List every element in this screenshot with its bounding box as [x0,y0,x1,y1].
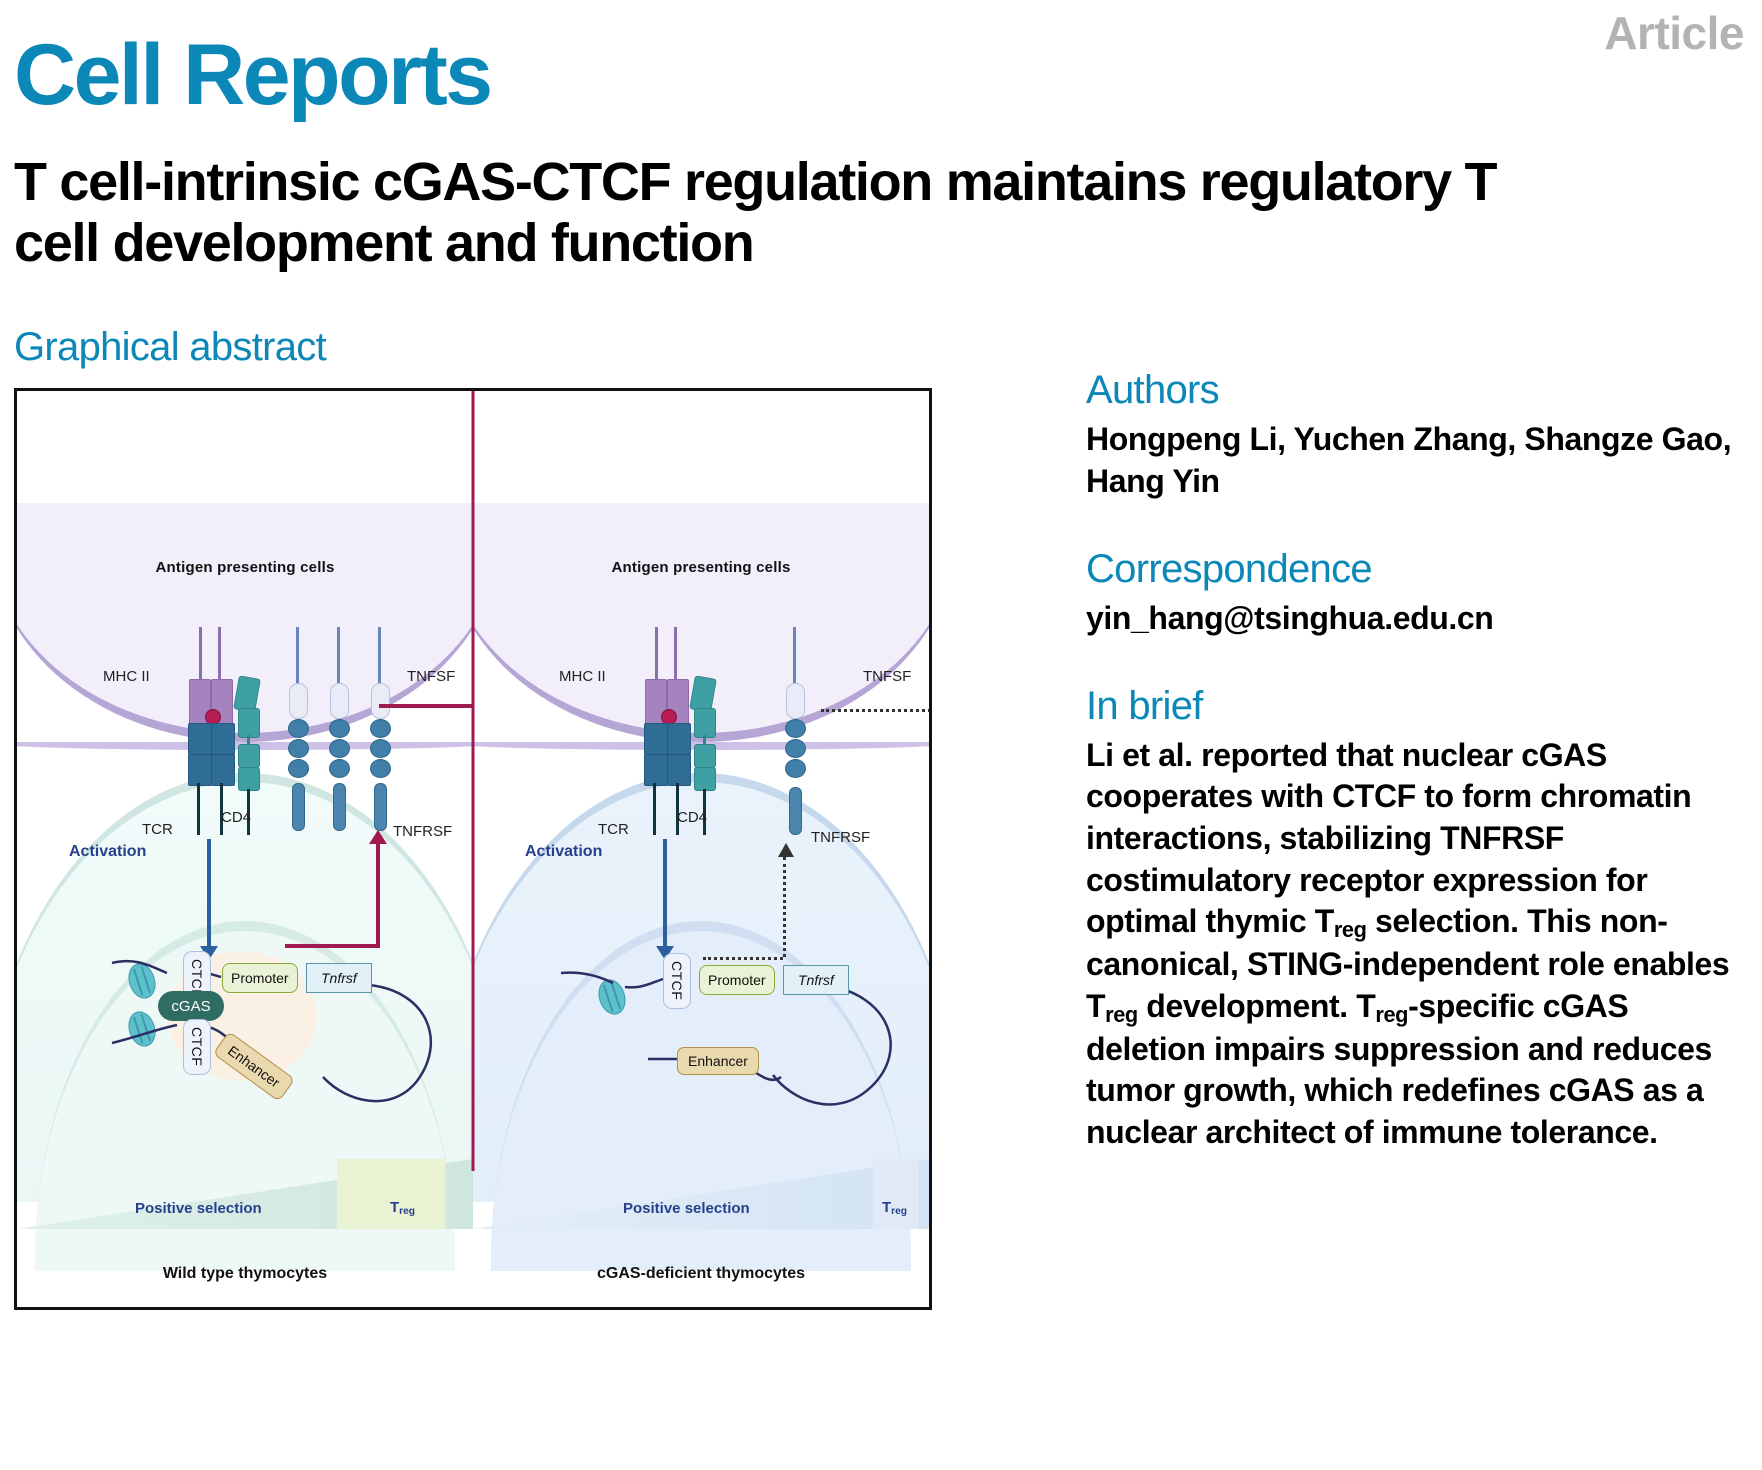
tnfsf-bead-3b [370,739,391,758]
tnfsf-bead-2c [329,759,350,778]
panel-caption-wild-type: Wild type thymocytes [17,1265,473,1283]
tnfsf-bead-2a [329,719,350,738]
cd4-domain-4 [238,767,260,791]
dotted-arrow-horizontal [703,957,783,960]
mhc-stalk-right-mut [674,627,677,685]
tnfsf-stalk-2 [337,627,340,687]
activation-arrow [207,839,211,947]
figure-panel-wild-type: Antigen presenting cells [17,391,473,1307]
cd4-domain-2-mut [694,708,716,738]
positive-selection-label: Positive selection [135,1200,262,1217]
promoter-element: Promoter [222,963,298,993]
dotted-arrow-up [783,857,786,957]
tnfsf-stalk-mut [793,627,796,687]
panel-caption-cgas-deficient: cGAS-deficient thymocytes [473,1265,929,1283]
cd4-domain-3-mut [694,744,716,768]
tcr-label: TCR [142,821,173,838]
tnfrsf-rod-2 [333,783,346,831]
page-title: T cell-intrinsic cGAS-CTCF regulation ma… [14,152,1514,274]
tcr-subunit-left-lower [188,754,212,786]
panel-divider [472,391,475,1171]
magenta-arrow-horizontal [285,944,380,948]
enhancer-element-mut: Enhancer [677,1047,759,1075]
tcr-subunit-left-upper-mut [644,723,668,755]
apc-label-mut: Antigen presenting cells [473,559,929,576]
activation-arrow-mut [663,839,667,947]
mhc-ii-label: MHC II [103,668,150,685]
dotted-feedback-horizontal [821,709,929,712]
article-metadata-column: Authors Hongpeng Li, Yuchen Zhang, Shang… [1086,368,1746,1154]
tnfrsf-rod-3 [374,783,387,831]
treg-band [337,1159,445,1229]
tcr-stalk-left-mut [653,783,656,835]
tnfsf-label-mut: TNFSF [863,668,911,685]
mhc-stalk-right [218,627,221,685]
cgas-protein: cGAS [158,991,224,1021]
cd4-label: CD4 [221,809,251,826]
journal-title: Cell Reports [14,32,491,118]
tcr-subunit-right-upper [211,723,235,755]
in-brief-text: Li et al. reported that nuclear cGAS coo… [1086,735,1746,1154]
tcr-stalk-left [197,783,200,835]
treg-band-mut [873,1159,919,1229]
activation-label: Activation [69,843,146,861]
tnfsf-cap-3 [371,683,390,719]
tnfsf-bead-2b [329,739,350,758]
cd4-label-mut: CD4 [677,809,707,826]
article-type-tag: Article [1604,6,1744,60]
tnfsf-stalk-1 [296,627,299,687]
tnfrsf-rod-mut [789,787,802,835]
mhc-ii-label-mut: MHC II [559,668,606,685]
tcr-subunit-right-upper-mut [667,723,691,755]
treg-label-mut: Treg [882,1199,907,1217]
tnfsf-bead-1a [288,719,309,738]
tcr-subunit-right-lower [211,754,235,786]
ctcf-mut-label: CTCF [669,961,685,1000]
tnfsf-label: TNFSF [407,668,455,685]
tnfsf-bead-1b [288,739,309,758]
tcr-subunit-right-lower-mut [667,754,691,786]
tnfsf-bead-3c [370,759,391,778]
tnfsf-stalk-3 [378,627,381,687]
positive-selection-label-mut: Positive selection [623,1200,750,1217]
apc-label: Antigen presenting cells [17,559,473,576]
correspondence-heading: Correspondence [1086,547,1746,592]
tnfsf-bead-mut-b [785,739,806,758]
tnfrsf-rod-1 [292,783,305,831]
graphical-abstract-figure: Antigen presenting cells [14,388,932,1310]
tnfsf-bead-1c [288,759,309,778]
authors-heading: Authors [1086,368,1746,413]
correspondence-email: yin_hang@tsinghua.edu.cn [1086,598,1746,640]
ctcf-mut: CTCF [663,953,691,1009]
tnfrsf-label-mut: TNFRSF [811,829,870,846]
mhc-stalk-left-mut [655,627,658,685]
graphical-abstract-heading: Graphical abstract [14,325,326,370]
magenta-arrow-up [376,843,380,948]
authors-list: Hongpeng Li, Yuchen Zhang, Shangze Gao, … [1086,419,1746,503]
treg-label: Treg [390,1199,415,1217]
tnfrsf-gene-element: Tnfrsf [306,963,372,993]
tnfsf-cap-mut [786,683,805,719]
tnfrsf-label: TNFRSF [393,823,452,840]
figure-panel-cgas-deficient: Antigen presenting cells MHC II TNFSF [473,391,929,1307]
in-brief-heading: In brief [1086,684,1746,729]
cd4-domain-2 [238,708,260,738]
tcr-label-mut: TCR [598,821,629,838]
ctcf-lower: CTCF [183,1019,211,1075]
activation-label-mut: Activation [525,843,602,861]
tcr-subunit-left-upper [188,723,212,755]
promoter-element-mut: Promoter [699,965,775,995]
cd4-domain-4-mut [694,767,716,791]
tnfsf-cap-1 [289,683,308,719]
tnfsf-bead-mut-c [785,759,806,778]
tnfsf-bead-3a [370,719,391,738]
ctcf-lower-label: CTCF [189,1027,205,1066]
cd4-domain-3 [238,744,260,768]
magenta-feedback-horizontal [379,704,473,708]
tcr-subunit-left-lower-mut [644,754,668,786]
mhc-stalk-left [199,627,202,685]
tnfsf-bead-mut-a [785,719,806,738]
tnfrsf-gene-element-mut: Tnfrsf [783,965,849,995]
tnfsf-cap-2 [330,683,349,719]
